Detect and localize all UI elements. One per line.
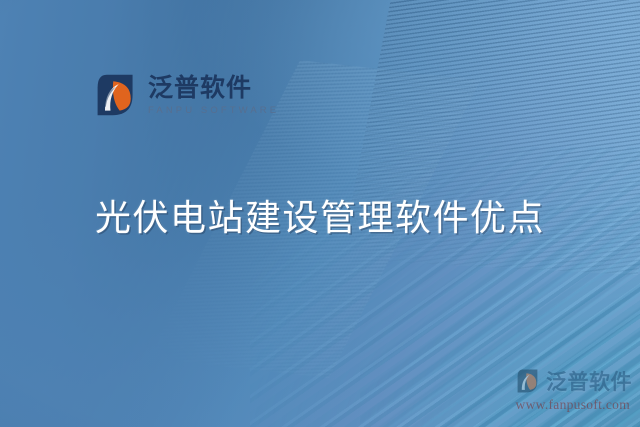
brand-logo: 泛普软件 FANPU SOFTWARE (93, 72, 279, 118)
page-title: 光伏电站建设管理软件优点 (0, 196, 640, 242)
brand-wordmark: 泛普软件 FANPU SOFTWARE (148, 72, 279, 116)
brand-name-cn: 泛普软件 (148, 75, 279, 102)
brand-name-en: FANPU SOFTWARE (148, 105, 279, 116)
watermark-url: www.fanpusoft.com (516, 397, 630, 413)
fanpu-hexagon-logo-icon (515, 368, 541, 394)
fanpu-hexagon-logo-icon (93, 72, 139, 118)
watermark-name-cn: 泛普软件 (546, 366, 632, 396)
promo-banner: 泛普软件 FANPU SOFTWARE 光伏电站建设管理软件优点 泛普软件 ww… (0, 0, 640, 427)
watermark: 泛普软件 www.fanpusoft.com (515, 366, 632, 413)
watermark-logo-row: 泛普软件 (515, 366, 632, 396)
